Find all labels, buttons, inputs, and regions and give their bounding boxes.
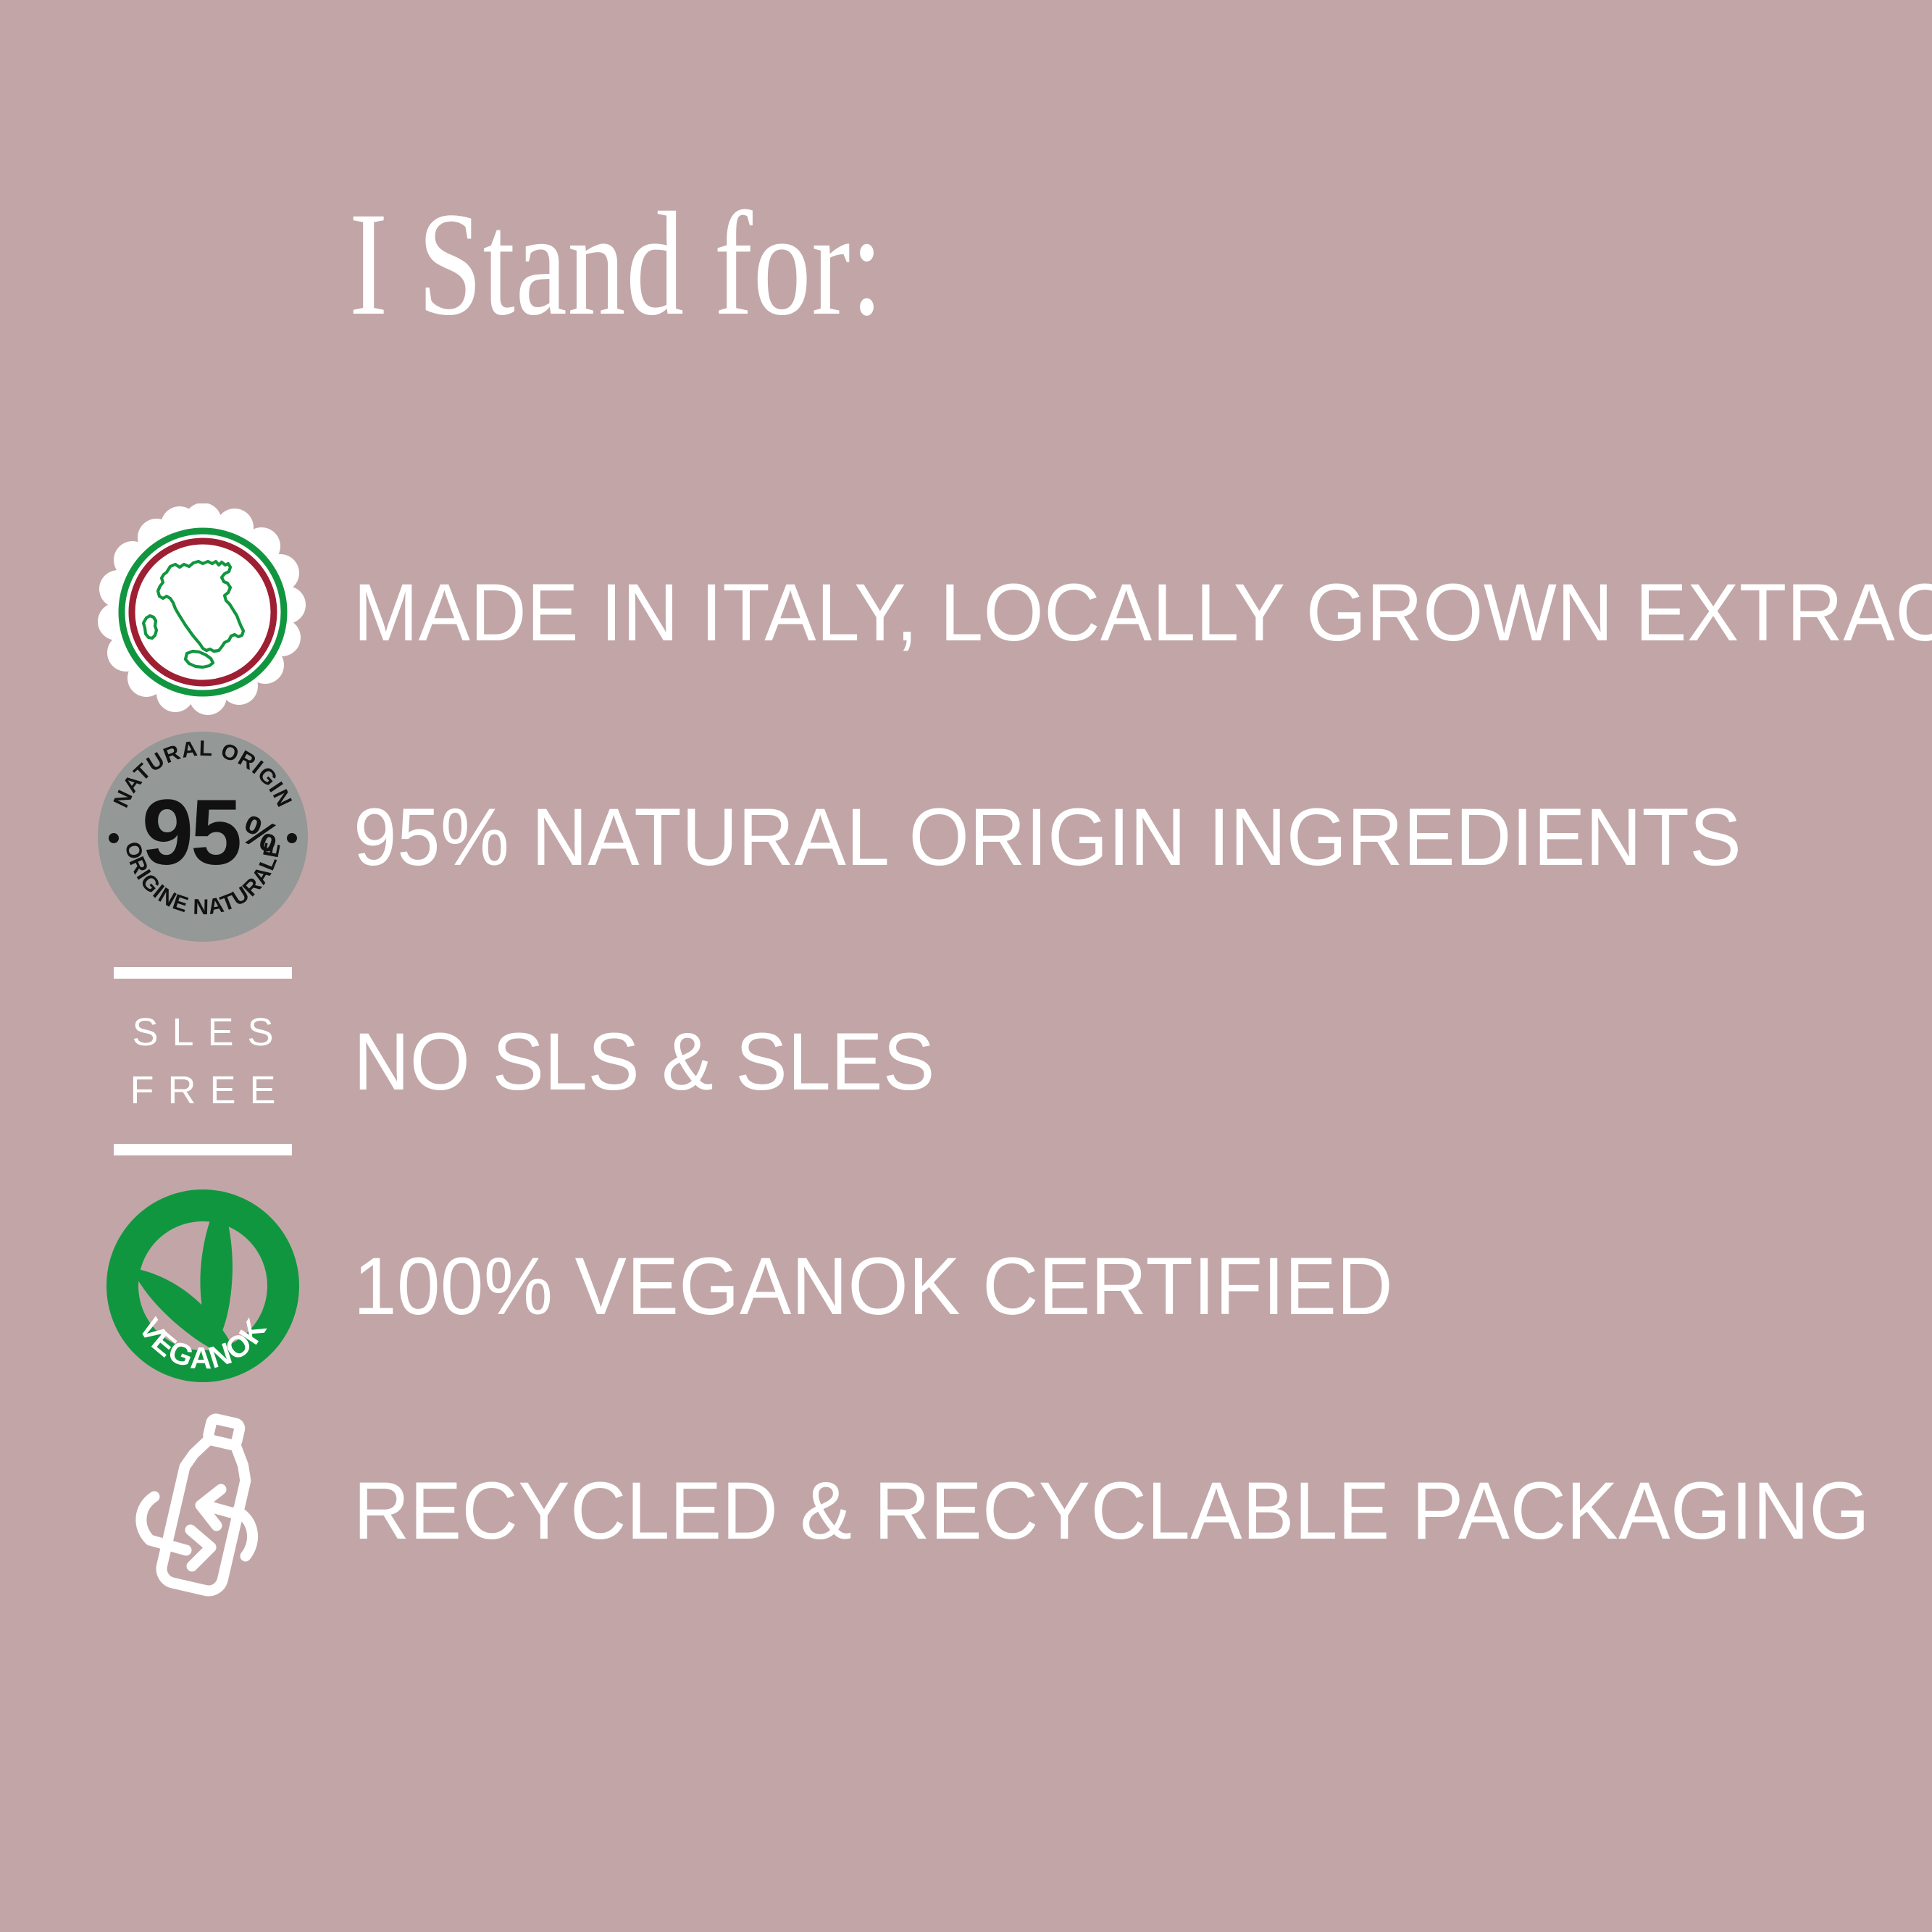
claim-badge-slot [94,500,311,724]
sles-rule-top [114,967,292,979]
made-in-italy-rosette-icon [94,503,311,721]
claim-label: NO SLS & SLES [354,949,963,1174]
claim-label-text: 95% NATURAL ORIGIN INGREDIENTS [354,790,1741,884]
claim-label: 100% VEGANOK CERTIFIED [354,1174,1442,1398]
claim-badge-slot: SLES FREE [94,949,311,1174]
list-item: VEGANOK 100% VEGANOK CERTIFIED [0,1174,1932,1398]
claim-label-text: 100% VEGANOK CERTIFIED [354,1239,1393,1333]
claim-label-text: MADE IN ITALY, LOCALLY GROWN EXTRACTS [354,566,1932,659]
list-item: SLES FREE NO SLS & SLES [0,949,1932,1174]
poster-canvas: I Stand for: [0,0,1932,1932]
claim-label: MADE IN ITALY, LOCALLY GROWN EXTRACTS [354,500,1932,724]
claim-badge-slot: VEGANOK [94,1174,311,1398]
claim-label-text: NO SLS & SLES [354,1015,935,1108]
recycled-bottle-icon [105,1405,301,1615]
claim-label-text: RECYCLED & RECYCLABLE PACKAGING [354,1464,1870,1557]
natural-origin-95-badge-icon: NATURAL ORIGIN ORIGINE NATURALE 95 % [98,732,308,942]
claim-badge-slot: NATURAL ORIGIN ORIGINE NATURALE 95 % [94,724,311,949]
badge-dot-left-icon [109,833,119,843]
claim-badge-slot [94,1398,311,1623]
sles-free-icon: SLES FREE [114,967,292,1155]
badge-value: 95 [142,781,240,885]
list-item: RECYCLED & RECYCLABLE PACKAGING [0,1398,1932,1623]
sles-line-2: FREE [116,1071,289,1110]
claim-label: 95% NATURAL ORIGIN INGREDIENTS [354,724,1807,949]
page-title: I Stand for: [349,190,884,338]
veganok-leaf-icon: VEGANOK [105,1188,301,1384]
claim-label: RECYCLED & RECYCLABLE PACKAGING [354,1398,1932,1623]
claims-list: MADE IN ITALY, LOCALLY GROWN EXTRACTS NA… [0,500,1932,1623]
list-item: NATURAL ORIGIN ORIGINE NATURALE 95 % [0,724,1932,949]
sles-rule-bottom [114,1144,292,1155]
sles-line-1: SLES [118,1013,287,1052]
badge-dot-right-icon [287,833,297,843]
list-item: MADE IN ITALY, LOCALLY GROWN EXTRACTS [0,500,1932,724]
sles-free-words: SLES FREE [116,1013,289,1110]
